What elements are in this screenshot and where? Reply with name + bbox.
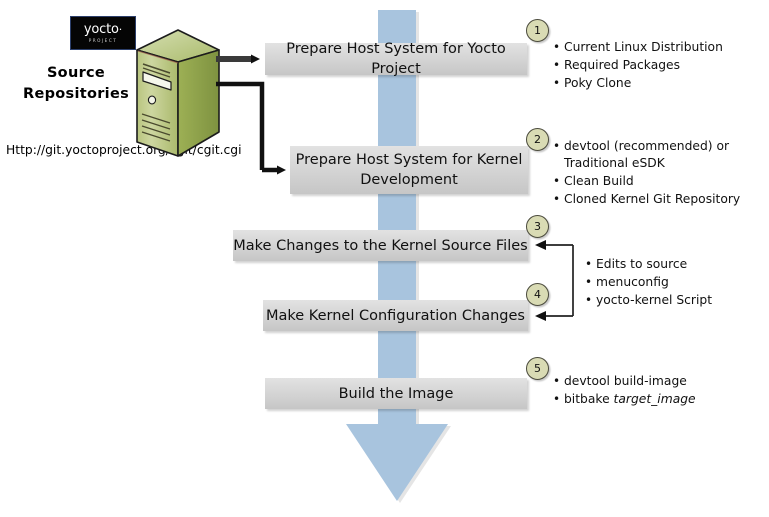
step-number-5-label: 5 (534, 362, 541, 375)
note-item: Required Packages (564, 57, 766, 74)
arrow-server-to-box2-elbow (216, 84, 262, 170)
note-item: devtool (recommended) or Traditional eSD… (564, 138, 766, 172)
note-item-text: devtool (recommended) or Traditional eSD… (564, 139, 729, 170)
note-item: Edits to source (596, 256, 768, 273)
server-tower-icon (134, 28, 222, 158)
note-item: Clean Build (564, 173, 766, 190)
note-item-text: yocto-kernel Script (596, 293, 712, 307)
process-box-step-4[interactable]: Make Kernel Configuration Changes (263, 300, 528, 331)
source-repositories-line1: Source (12, 63, 140, 84)
process-box-step-3-label: Make Changes to the Kernel Source Files (233, 236, 527, 256)
logo-wordmark-text: yocto (84, 22, 119, 37)
process-box-step-1[interactable]: Prepare Host System for Yocto Project (265, 43, 527, 75)
note-item-text: Cloned Kernel Git Repository (564, 192, 740, 206)
process-box-step-3[interactable]: Make Changes to the Kernel Source Files (233, 230, 528, 261)
step-number-2-label: 2 (534, 133, 541, 146)
step-number-1-label: 1 (534, 24, 541, 37)
process-box-step-1-label: Prepare Host System for Yocto Project (265, 39, 527, 79)
step-number-3-label: 3 (534, 220, 541, 233)
note-item-text: Poky Clone (564, 76, 631, 90)
note-item-text: menuconfig (596, 275, 669, 289)
notes-step-1: Current Linux Distribution Required Pack… (551, 39, 766, 93)
note-item: devtool build-image (564, 373, 766, 390)
source-repositories-line2: Repositories (12, 84, 140, 105)
note-item: bitbake target_image (564, 391, 766, 408)
note-item: yocto-kernel Script (596, 292, 768, 309)
note-item-emphasis: target_image (614, 392, 696, 406)
source-repositories-label: Source Repositories (12, 63, 140, 105)
step-number-4: 4 (526, 283, 549, 306)
process-box-step-5[interactable]: Build the Image (265, 378, 527, 409)
note-item-text: devtool build-image (564, 374, 687, 388)
process-box-step-2[interactable]: Prepare Host System for Kernel Developme… (290, 146, 528, 194)
step-number-1: 1 (526, 19, 549, 42)
process-box-step-5-label: Build the Image (339, 384, 454, 404)
note-item-text: Required Packages (564, 58, 680, 72)
step-number-2: 2 (526, 128, 549, 151)
notes-steps-3-and-4: Edits to source menuconfig yocto-kernel … (583, 256, 768, 310)
note-item-text: bitbake (564, 392, 614, 406)
logo-dot: · (119, 23, 122, 36)
step-number-3: 3 (526, 215, 549, 238)
process-box-step-2-label: Prepare Host System for Kernel Developme… (290, 150, 528, 190)
note-item-text: Edits to source (596, 257, 687, 271)
logo-wordmark: yocto· (84, 23, 122, 36)
note-item: Poky Clone (564, 75, 766, 92)
notes-step-5: devtool build-image bitbake target_image (551, 373, 766, 409)
step-number-5: 5 (526, 357, 549, 380)
logo-subtext: PROJECT (89, 37, 118, 44)
note-item-text: Current Linux Distribution (564, 40, 723, 54)
step-number-4-label: 4 (534, 288, 541, 301)
process-box-step-4-label: Make Kernel Configuration Changes (266, 306, 525, 326)
yocto-project-logo: yocto· PROJECT (70, 16, 136, 50)
note-item: menuconfig (596, 274, 768, 291)
diagram-canvas: yocto· PROJECT Source Repositories Http:… (0, 0, 769, 517)
note-item: Current Linux Distribution (564, 39, 766, 56)
note-item-text: Clean Build (564, 174, 634, 188)
notes-step-2: devtool (recommended) or Traditional eSD… (551, 138, 766, 209)
note-item: Cloned Kernel Git Repository (564, 191, 766, 208)
